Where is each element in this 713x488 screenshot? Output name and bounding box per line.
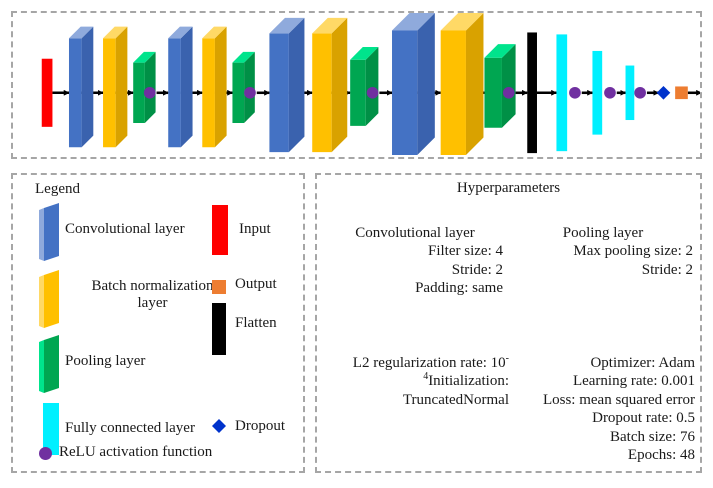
legend-label-flatten: Flatten xyxy=(235,315,305,332)
legend-swatch-batch-normalization xyxy=(39,270,59,333)
conv-3-side xyxy=(289,18,305,152)
batchnorm-3-side xyxy=(332,18,348,152)
batchnorm-1-side xyxy=(116,27,128,148)
fully-connected-1 xyxy=(556,34,567,151)
conv-1-front xyxy=(69,38,82,147)
pool-4-front xyxy=(484,58,502,128)
dropout-swatch-icon xyxy=(212,419,226,433)
pool-3-side xyxy=(366,47,379,126)
hyperparameters-conv-block: Convolutional layerFilter size: 4 Stride… xyxy=(327,205,503,298)
batchnorm-3-front xyxy=(312,33,331,152)
architecture-diagram: M xyxy=(13,13,700,157)
conv-2-front xyxy=(168,38,181,147)
relu-4-marker xyxy=(503,87,515,99)
relu-7-marker xyxy=(634,87,646,99)
batchnorm-4-side xyxy=(466,13,484,155)
convolutional-layer-swatch-icon xyxy=(39,203,59,261)
batchnorm-2 xyxy=(202,27,226,148)
legend-swatch-output xyxy=(212,280,226,299)
legend-label-dropout: Dropout xyxy=(235,418,305,435)
batchnorm-2-side xyxy=(215,27,227,148)
output xyxy=(675,86,688,99)
architecture-panel: M xyxy=(11,11,702,159)
batchnorm-1 xyxy=(103,27,127,148)
hyperparameters-training-block: Optimizer: Adam Learning rate: 0.001 Los… xyxy=(513,335,695,465)
conv-4-front xyxy=(392,31,417,156)
pooling-layer-swatch-icon xyxy=(39,335,59,393)
dropout-marker xyxy=(657,86,671,100)
conv-4-side xyxy=(417,13,435,155)
hyperparameters-panel: Hyperparameters Convolutional layerFilte… xyxy=(315,173,702,473)
conv-heading: Convolutional layer xyxy=(327,224,503,243)
conv-2 xyxy=(168,27,192,148)
pool-heading: Pooling layer xyxy=(513,224,693,243)
legend-label-output: Output xyxy=(235,276,305,293)
regularization-lines: Initialization: TruncatedNormal xyxy=(403,373,509,408)
legend-swatch-flatten xyxy=(212,303,226,360)
relu-6-marker xyxy=(604,87,616,99)
legend-swatch-relu xyxy=(39,447,52,465)
legend-swatch-pooling-layer xyxy=(39,335,59,398)
output-swatch-icon xyxy=(212,280,226,294)
legend-swatch-input xyxy=(212,205,228,260)
conv-lines: Filter size: 4 Stride: 2 Padding: same xyxy=(415,243,503,296)
hyperparameters-pool-block: Pooling layerMax pooling size: 2 Stride:… xyxy=(513,205,693,279)
conv-1-side xyxy=(82,27,94,148)
legend-title: Legend xyxy=(35,181,80,198)
batch-normalization-swatch-icon xyxy=(39,270,59,328)
pool-4-side xyxy=(502,44,516,128)
hyperparameters-regularization-block: L2 regularization rate: 10-4Initializati… xyxy=(323,335,509,409)
flatten xyxy=(527,32,537,153)
batchnorm-4-front xyxy=(441,31,466,156)
relu-1-marker xyxy=(144,87,156,99)
batchnorm-2-front xyxy=(202,38,215,147)
fully-connected-2 xyxy=(592,51,602,135)
l2-rate-prefix: L2 regularization rate: 10 xyxy=(353,355,506,371)
relu-5-marker xyxy=(569,87,581,99)
input-swatch-icon xyxy=(212,205,228,255)
conv-3 xyxy=(269,18,304,152)
legend-label-input: Input xyxy=(239,221,309,238)
pool-1-front xyxy=(133,63,145,123)
relu-3-marker xyxy=(367,87,379,99)
relu-swatch-icon xyxy=(39,447,52,460)
flatten-swatch-icon xyxy=(212,303,226,355)
pool-3 xyxy=(350,47,378,126)
legend-panel: Legend Convolutional layerBatch normaliz… xyxy=(11,173,305,473)
hyperparameters-title: Hyperparameters xyxy=(317,180,700,197)
fully-connected-3 xyxy=(626,66,635,120)
relu-2-marker xyxy=(244,87,256,99)
batchnorm-1-front xyxy=(103,38,116,147)
conv-2-side xyxy=(181,27,193,148)
legend-swatch-convolutional-layer xyxy=(39,203,59,266)
pool-lines: Max pooling size: 2 Stride: 2 xyxy=(573,243,693,278)
conv-1 xyxy=(69,27,93,148)
conv-3-front xyxy=(269,33,288,152)
legend-label-relu: ReLU activation function xyxy=(59,444,289,461)
pool-4 xyxy=(484,44,515,128)
legend-swatch-dropout xyxy=(212,419,226,438)
architecture-nodes xyxy=(42,13,688,155)
pool-3-front xyxy=(350,60,366,126)
pool-2-front xyxy=(232,63,244,123)
conv-4 xyxy=(392,13,435,155)
input xyxy=(42,59,53,127)
batchnorm-3 xyxy=(312,18,347,152)
batchnorm-4 xyxy=(441,13,484,155)
pool-1 xyxy=(133,52,155,123)
training-lines: Optimizer: Adam Learning rate: 0.001 Los… xyxy=(543,355,695,464)
